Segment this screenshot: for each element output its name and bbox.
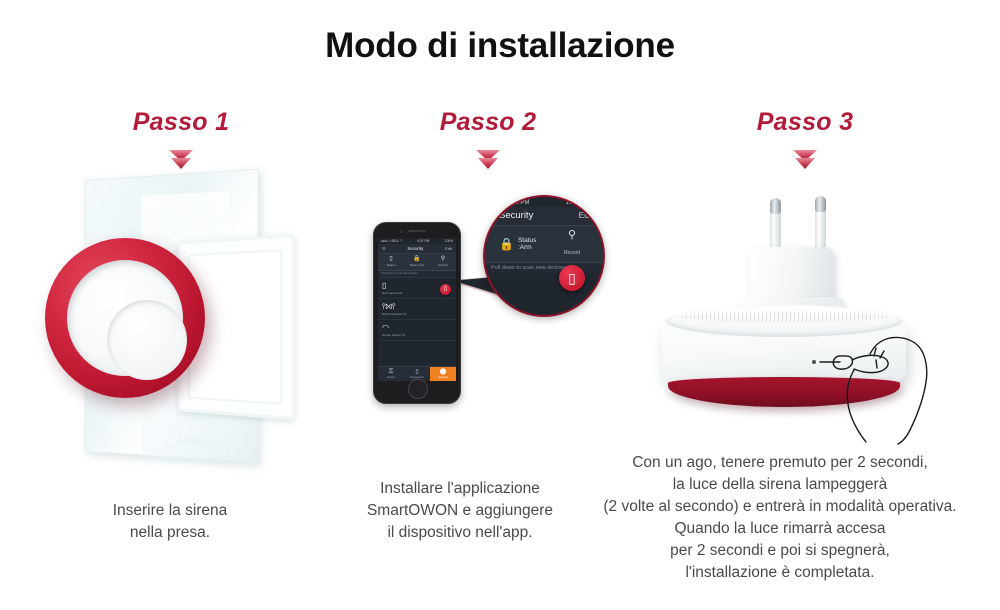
callout-battery: 100% bbox=[566, 200, 581, 206]
smartphone: ●●●○○ BELL ? 4:21 PM 100% ☰ Security Edi… bbox=[373, 222, 461, 404]
mode-disarm[interactable]: ▯ Disarm bbox=[378, 254, 404, 270]
callout-siren-badge-icon[interactable]: ▯ bbox=[559, 265, 585, 291]
list-item[interactable]: ▯ Door Sensor 01 ▯ bbox=[378, 278, 456, 299]
hand-holding-needle-icon bbox=[818, 330, 938, 445]
siren-white-ring bbox=[67, 260, 183, 376]
step-column-3: Passo 3 bbox=[640, 108, 940, 173]
plug-pin-right bbox=[815, 196, 826, 252]
siren-center-dome bbox=[107, 300, 187, 380]
mode-disarm-label: Disarm bbox=[387, 263, 396, 267]
step-1-heading: Passo 1 bbox=[42, 108, 320, 137]
siren-red-ring bbox=[45, 238, 205, 398]
brand-mark: Livolo bbox=[178, 436, 204, 445]
siren-vent-grille bbox=[678, 312, 890, 322]
motion-detector-icon: ⫯⨝⫯ bbox=[382, 302, 452, 311]
step-1-illustration: Livolo bbox=[45, 170, 305, 470]
hamburger-menu-icon[interactable]: ☰ bbox=[382, 246, 386, 251]
lock-icon: 🔒 bbox=[499, 237, 514, 251]
callout-edit-button[interactable]: Ed bbox=[579, 210, 589, 220]
reset-pinhole bbox=[812, 360, 816, 364]
arrow-down-icon bbox=[792, 149, 818, 173]
siren-badge-icon[interactable]: ▯ bbox=[440, 284, 451, 295]
edit-button[interactable]: Edit bbox=[445, 246, 452, 251]
step-2-arrow-wrap bbox=[346, 149, 630, 173]
phone-front-camera bbox=[400, 230, 403, 233]
step-3-illustration bbox=[640, 185, 960, 445]
mode-record-label: Record bbox=[438, 263, 447, 267]
callout-record-button[interactable]: ⚲ Record bbox=[549, 229, 595, 259]
mode-bar: ▯ Disarm 🔒 Status :Arm ⚲ Record bbox=[378, 254, 456, 271]
callout-time: 4:21 PM bbox=[507, 200, 529, 206]
smoke-sensor-icon: ◠ bbox=[382, 323, 452, 332]
mode-arm[interactable]: 🔒 Status :Arm bbox=[404, 254, 430, 270]
record-icon: ⚲ bbox=[549, 229, 595, 241]
step-2-illustration: ●●●○○ BELL ? 4:21 PM 100% ☰ Security Edi… bbox=[355, 190, 625, 440]
callout-status-arm[interactable]: 🔒 Status :Arm bbox=[493, 237, 549, 251]
device-label: Smoke Sensor 01 bbox=[382, 333, 452, 337]
magnifier-callout: 4:21 PM 100% Security Ed 🔒 Status :Arm ⚲… bbox=[483, 195, 605, 317]
phone-earpiece bbox=[408, 230, 426, 232]
step-2-heading: Passo 2 bbox=[346, 108, 630, 137]
step-2-caption: Installare l'applicazione SmartOWON e ag… bbox=[320, 478, 600, 544]
page-title: Modo di installazione bbox=[0, 26, 1000, 66]
callout-nav-bar: Security Ed bbox=[485, 207, 603, 225]
step-3-arrow-wrap bbox=[670, 149, 940, 173]
plug-pin-tip bbox=[815, 196, 826, 212]
step-column-2: Passo 2 bbox=[330, 108, 630, 173]
app-nav-bar: ☰ Security Edit bbox=[378, 244, 456, 254]
step-1-caption: Inserire la sirena nella presa. bbox=[45, 500, 295, 544]
callout-pull-down-hint: Pull down to scan new devices bbox=[485, 263, 603, 273]
plug-pin-tip bbox=[770, 198, 781, 214]
callout-status-bar: 4:21 PM 100% bbox=[485, 197, 603, 207]
status-time: 4:21 PM bbox=[417, 239, 429, 243]
tab-security[interactable]: ⬤ Security bbox=[430, 367, 456, 382]
status-carrier: ●●●○○ BELL ? bbox=[381, 239, 402, 243]
plug-pin-left bbox=[770, 198, 781, 254]
arrow-down-icon bbox=[475, 149, 501, 173]
status-battery: 100% bbox=[445, 239, 453, 243]
step-3-heading: Passo 3 bbox=[670, 108, 940, 137]
tab-control-label: Control bbox=[387, 376, 395, 379]
phone-screen: ●●●○○ BELL ? 4:21 PM 100% ☰ Security Edi… bbox=[378, 238, 456, 381]
callout-status-label: Status :Arm bbox=[518, 237, 549, 251]
record-icon: ⚲ bbox=[430, 256, 456, 263]
callout-title: Security bbox=[499, 210, 533, 221]
phone-home-button[interactable] bbox=[408, 379, 428, 399]
step-3-caption: Con un ago, tenere premuto per 2 secondi… bbox=[575, 452, 985, 584]
step-column-1: Passo 1 bbox=[20, 108, 320, 173]
pull-down-hint: Pull down to scan new devices bbox=[378, 271, 456, 278]
app-title: Security bbox=[407, 246, 423, 251]
mode-arm-label: Status :Arm bbox=[410, 263, 425, 267]
mode-record[interactable]: ⚲ Record bbox=[430, 254, 456, 270]
device-label: Motion Detector 01 bbox=[382, 312, 452, 316]
callout-record-label: Record bbox=[564, 250, 580, 256]
temperature-icon: ▯ bbox=[404, 369, 430, 376]
security-icon: ⬤ bbox=[430, 369, 456, 376]
control-icon: ⚿ bbox=[378, 369, 404, 376]
list-item[interactable]: ◠ Smoke Sensor 01 bbox=[378, 320, 456, 341]
callout-mode-bar: 🔒 Status :Arm ⚲ Record bbox=[485, 225, 603, 263]
lock-icon: 🔒 bbox=[404, 256, 430, 263]
disarm-icon: ▯ bbox=[378, 256, 404, 263]
tab-security-label: Security bbox=[438, 376, 447, 379]
tab-control[interactable]: ⚿ Control bbox=[378, 367, 404, 382]
list-item[interactable]: ⫯⨝⫯ Motion Detector 01 bbox=[378, 299, 456, 320]
